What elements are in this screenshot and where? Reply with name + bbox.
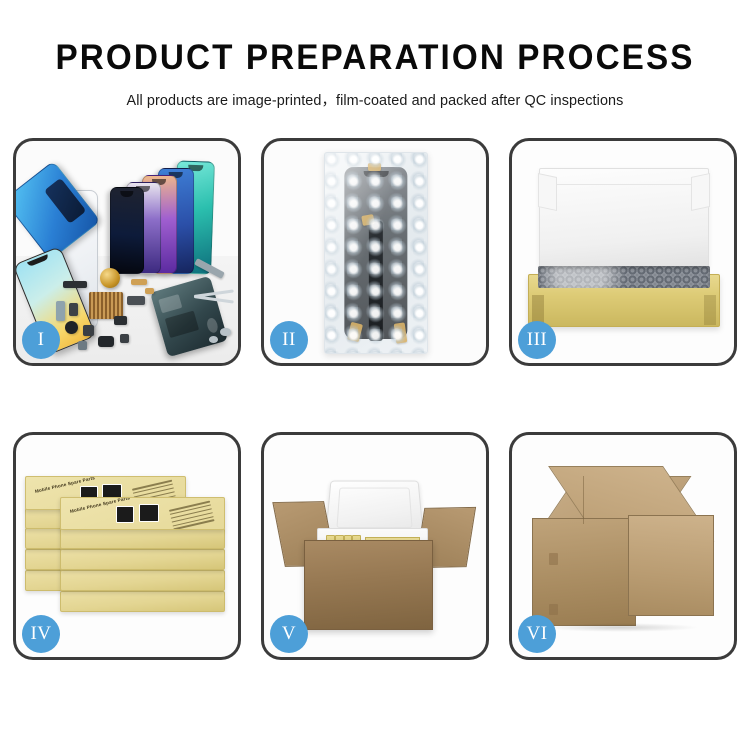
flex-cable <box>127 296 145 305</box>
spare-part <box>69 303 78 316</box>
housing-cutout <box>159 294 183 313</box>
step-panel-5: V <box>261 432 489 660</box>
notch <box>120 191 133 197</box>
camera-ring <box>206 317 220 334</box>
spare-part <box>83 325 94 336</box>
carton-flap-tab <box>549 553 558 565</box>
step-badge-1: I <box>22 321 60 359</box>
spare-part <box>78 341 87 350</box>
stacked-box <box>60 591 225 612</box>
stacked-box-lid-front: Mobile Phone Spare Parts <box>60 497 225 530</box>
screw <box>209 336 218 343</box>
carton-shadow <box>543 623 700 633</box>
page-title: PRODUCT PREPARATION PROCESS <box>19 40 732 75</box>
lid-flap-left <box>538 173 557 211</box>
sim-tray <box>56 301 65 321</box>
step-badge-3: III <box>518 321 556 359</box>
process-steps-grid: I II <box>13 138 737 660</box>
plastic-highlight <box>325 153 427 353</box>
phone-graphic <box>139 504 159 522</box>
spare-part <box>63 281 87 288</box>
tray-corner <box>704 295 715 326</box>
box-stack: Mobile Phone Spare Parts <box>25 466 229 639</box>
page-subtitle: All products are image-printed，film-coat… <box>0 89 750 110</box>
open-carton <box>284 484 466 631</box>
step-badge-5: V <box>270 615 308 653</box>
step-panel-1: I <box>13 138 241 366</box>
phone-screen-dark <box>110 187 144 274</box>
step-panel-4: Mobile Phone Spare Parts <box>13 432 241 660</box>
product-preparation-infographic: PRODUCT PREPARATION PROCESS All products… <box>0 0 750 750</box>
gold-contact <box>131 279 147 286</box>
carton-body <box>304 540 433 630</box>
phone-graphic <box>116 506 134 522</box>
step-badge-2: II <box>270 321 308 359</box>
step-badge-4: IV <box>22 615 60 653</box>
chip-grid <box>89 292 122 319</box>
stacked-box <box>60 549 225 570</box>
step-panel-2: II <box>261 138 489 366</box>
stacked-box <box>60 528 225 549</box>
yellow-box-tray <box>528 274 721 327</box>
stacked-box <box>60 570 225 591</box>
sealed-carton <box>532 466 714 626</box>
grey-bubble-padding <box>538 266 710 287</box>
open-inner-box <box>528 168 719 328</box>
carton-flap-tab <box>549 604 558 616</box>
white-box-lid <box>539 168 709 269</box>
carton-seam <box>583 476 585 524</box>
gold-component <box>100 268 120 288</box>
lid-flap-right <box>691 173 710 211</box>
carton-side-face <box>628 515 714 616</box>
bubble-wrap-bag <box>324 152 428 354</box>
phone-screen-fan <box>114 159 238 274</box>
tweezers-icon <box>194 279 234 319</box>
step-panel-3: III <box>509 138 737 366</box>
box-spec-lines <box>169 500 214 524</box>
spare-part <box>98 336 114 347</box>
step-panel-6: VI <box>509 432 737 660</box>
spare-part <box>114 316 127 325</box>
gold-contact <box>145 288 154 295</box>
carton-front-face <box>532 518 636 625</box>
spare-part <box>120 334 129 343</box>
header: PRODUCT PREPARATION PROCESS All products… <box>0 0 750 110</box>
step-badge-6: VI <box>518 615 556 653</box>
